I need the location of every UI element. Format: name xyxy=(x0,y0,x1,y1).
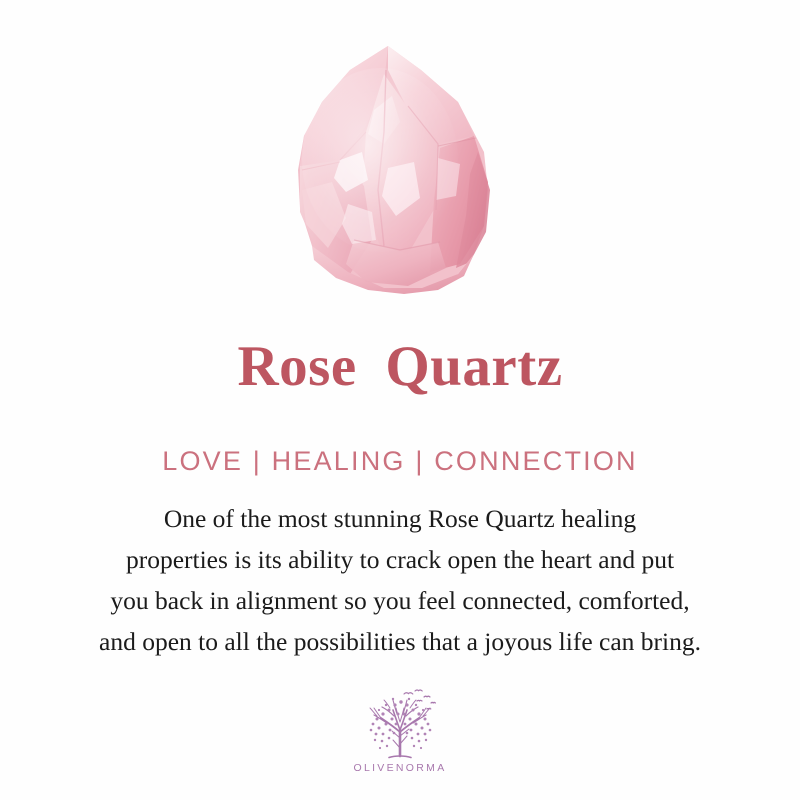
crystal-inner-glow xyxy=(302,68,458,252)
rose-quartz-crystal-image xyxy=(288,40,502,296)
tree-of-life-icon xyxy=(357,686,443,760)
keyword-subtitle: LOVE | HEALING | CONNECTION xyxy=(0,444,800,478)
brand-logo: OLIVENORMA xyxy=(0,686,800,774)
description-text: One of the most stunning Rose Quartz hea… xyxy=(0,498,800,662)
description-line: you back in alignment so you feel connec… xyxy=(0,580,800,621)
page-title: Rose Quartz xyxy=(0,335,800,399)
product-info-card: Rose Quartz LOVE | HEALING | CONNECTION … xyxy=(0,0,800,800)
description-line: properties is its ability to crack open … xyxy=(0,539,800,580)
brand-name: OLIVENORMA xyxy=(0,762,800,774)
description-line: One of the most stunning Rose Quartz hea… xyxy=(0,498,800,539)
hero-image-container xyxy=(0,0,800,310)
description-line: and open to all the possibilities that a… xyxy=(0,621,800,662)
